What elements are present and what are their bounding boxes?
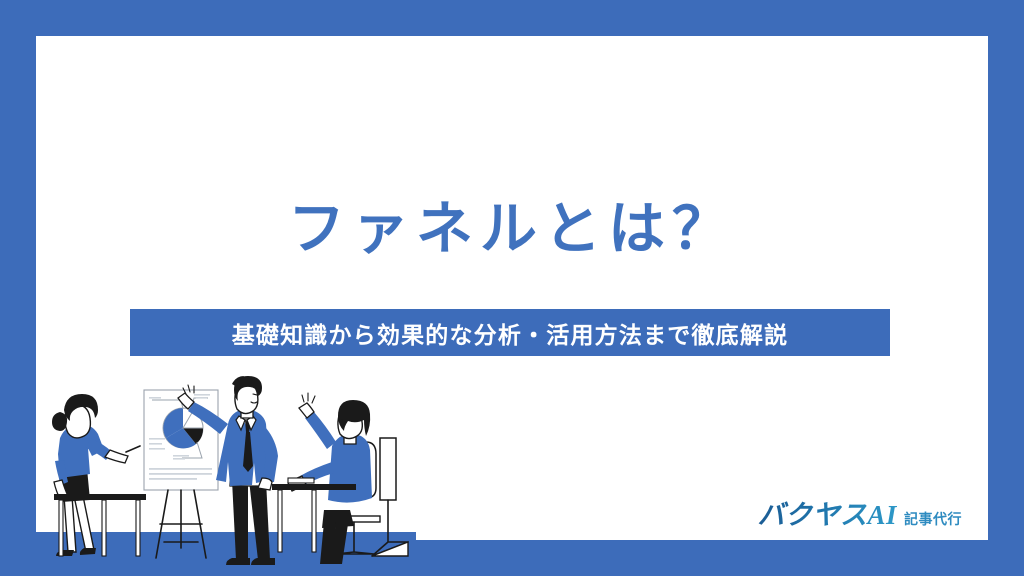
- figure-woman-pointing: [52, 394, 140, 556]
- illustration-svg: .bl{fill:#3f6fbd} .dk{fill:#1a1a1a} .wt{…: [36, 376, 416, 576]
- brand-logo: バクヤスAI 記事代行: [757, 493, 962, 532]
- logo-service-text: 記事代行: [904, 509, 962, 529]
- page-title: ファネルとは？: [0, 196, 1024, 264]
- subtitle-text: 基礎知識から効果的な分析・活用方法まで徹底解説: [232, 316, 789, 350]
- subtitle-banner: 基礎知識から効果的な分析・活用方法まで徹底解説: [130, 309, 890, 356]
- business-team-illustration: .bl{fill:#3f6fbd} .dk{fill:#1a1a1a} .wt{…: [36, 376, 416, 576]
- logo-brand-text: バクヤスAI: [757, 493, 897, 532]
- slide-canvas: ファネルとは？ 基礎知識から効果的な分析・活用方法まで徹底解説 .bl{fill…: [0, 0, 1024, 576]
